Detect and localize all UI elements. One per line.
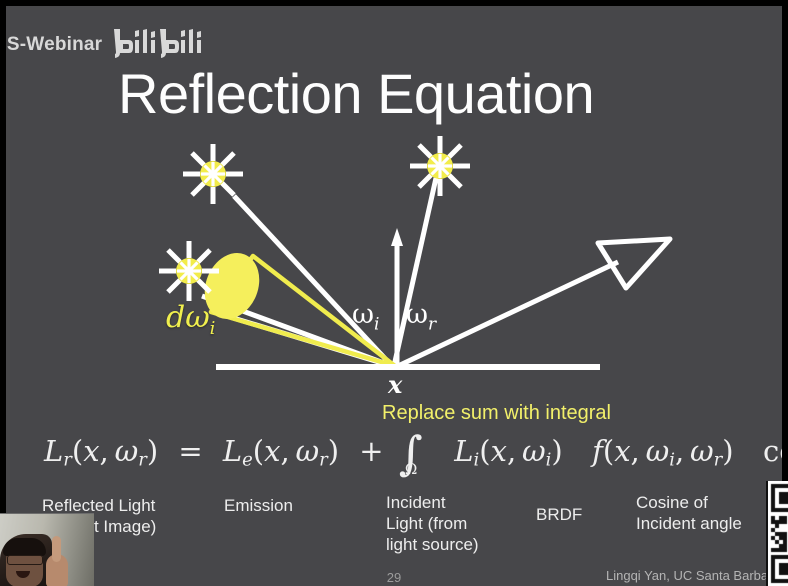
eq-le: L bbox=[223, 434, 242, 468]
reflection-equation: Lr(x, ωr) = Le(x, ωr) + ∫Ω Li(x, ωi) f(x… bbox=[44, 434, 782, 470]
webinar-watermark-text: ES-Webinar bbox=[6, 34, 102, 56]
annotation-cosine-incident-angle: Cosine of Incident angle bbox=[636, 492, 742, 534]
presenter-hair bbox=[3, 538, 46, 556]
solid-angle-label: dωi bbox=[166, 300, 215, 339]
bilibili-logo-icon bbox=[112, 28, 204, 62]
presenter-webcam[interactable] bbox=[0, 513, 94, 586]
annotation-incident-light: Incident Light (from light source) bbox=[386, 492, 479, 555]
presentation-slide: ES-Webinar bbox=[6, 6, 782, 586]
eq-lr: L bbox=[44, 434, 63, 468]
slide-credit: Lingqi Yan, UC Santa Barbara bbox=[606, 568, 780, 583]
surface-point-label: x bbox=[388, 370, 402, 399]
annotation-emission: Emission bbox=[224, 495, 293, 516]
annotation-brdf: BRDF bbox=[536, 504, 582, 525]
eq-cos: cos bbox=[763, 434, 782, 468]
screen-recording-frame: ES-Webinar bbox=[0, 0, 788, 586]
presenter-glasses bbox=[7, 555, 43, 565]
qr-code-canvas bbox=[768, 481, 788, 586]
qr-code[interactable] bbox=[766, 481, 788, 586]
omega-r-label: ωr bbox=[406, 299, 436, 334]
highlight-note: Replace sum with integral bbox=[382, 402, 611, 425]
presenter-finger bbox=[52, 536, 61, 562]
reflection-diagram bbox=[6, 116, 782, 406]
omega-i-label: ωi bbox=[352, 299, 379, 334]
eq-li: L bbox=[454, 434, 473, 468]
eq-brdf: f bbox=[592, 434, 603, 468]
watermark-row: ES-Webinar bbox=[6, 28, 204, 62]
